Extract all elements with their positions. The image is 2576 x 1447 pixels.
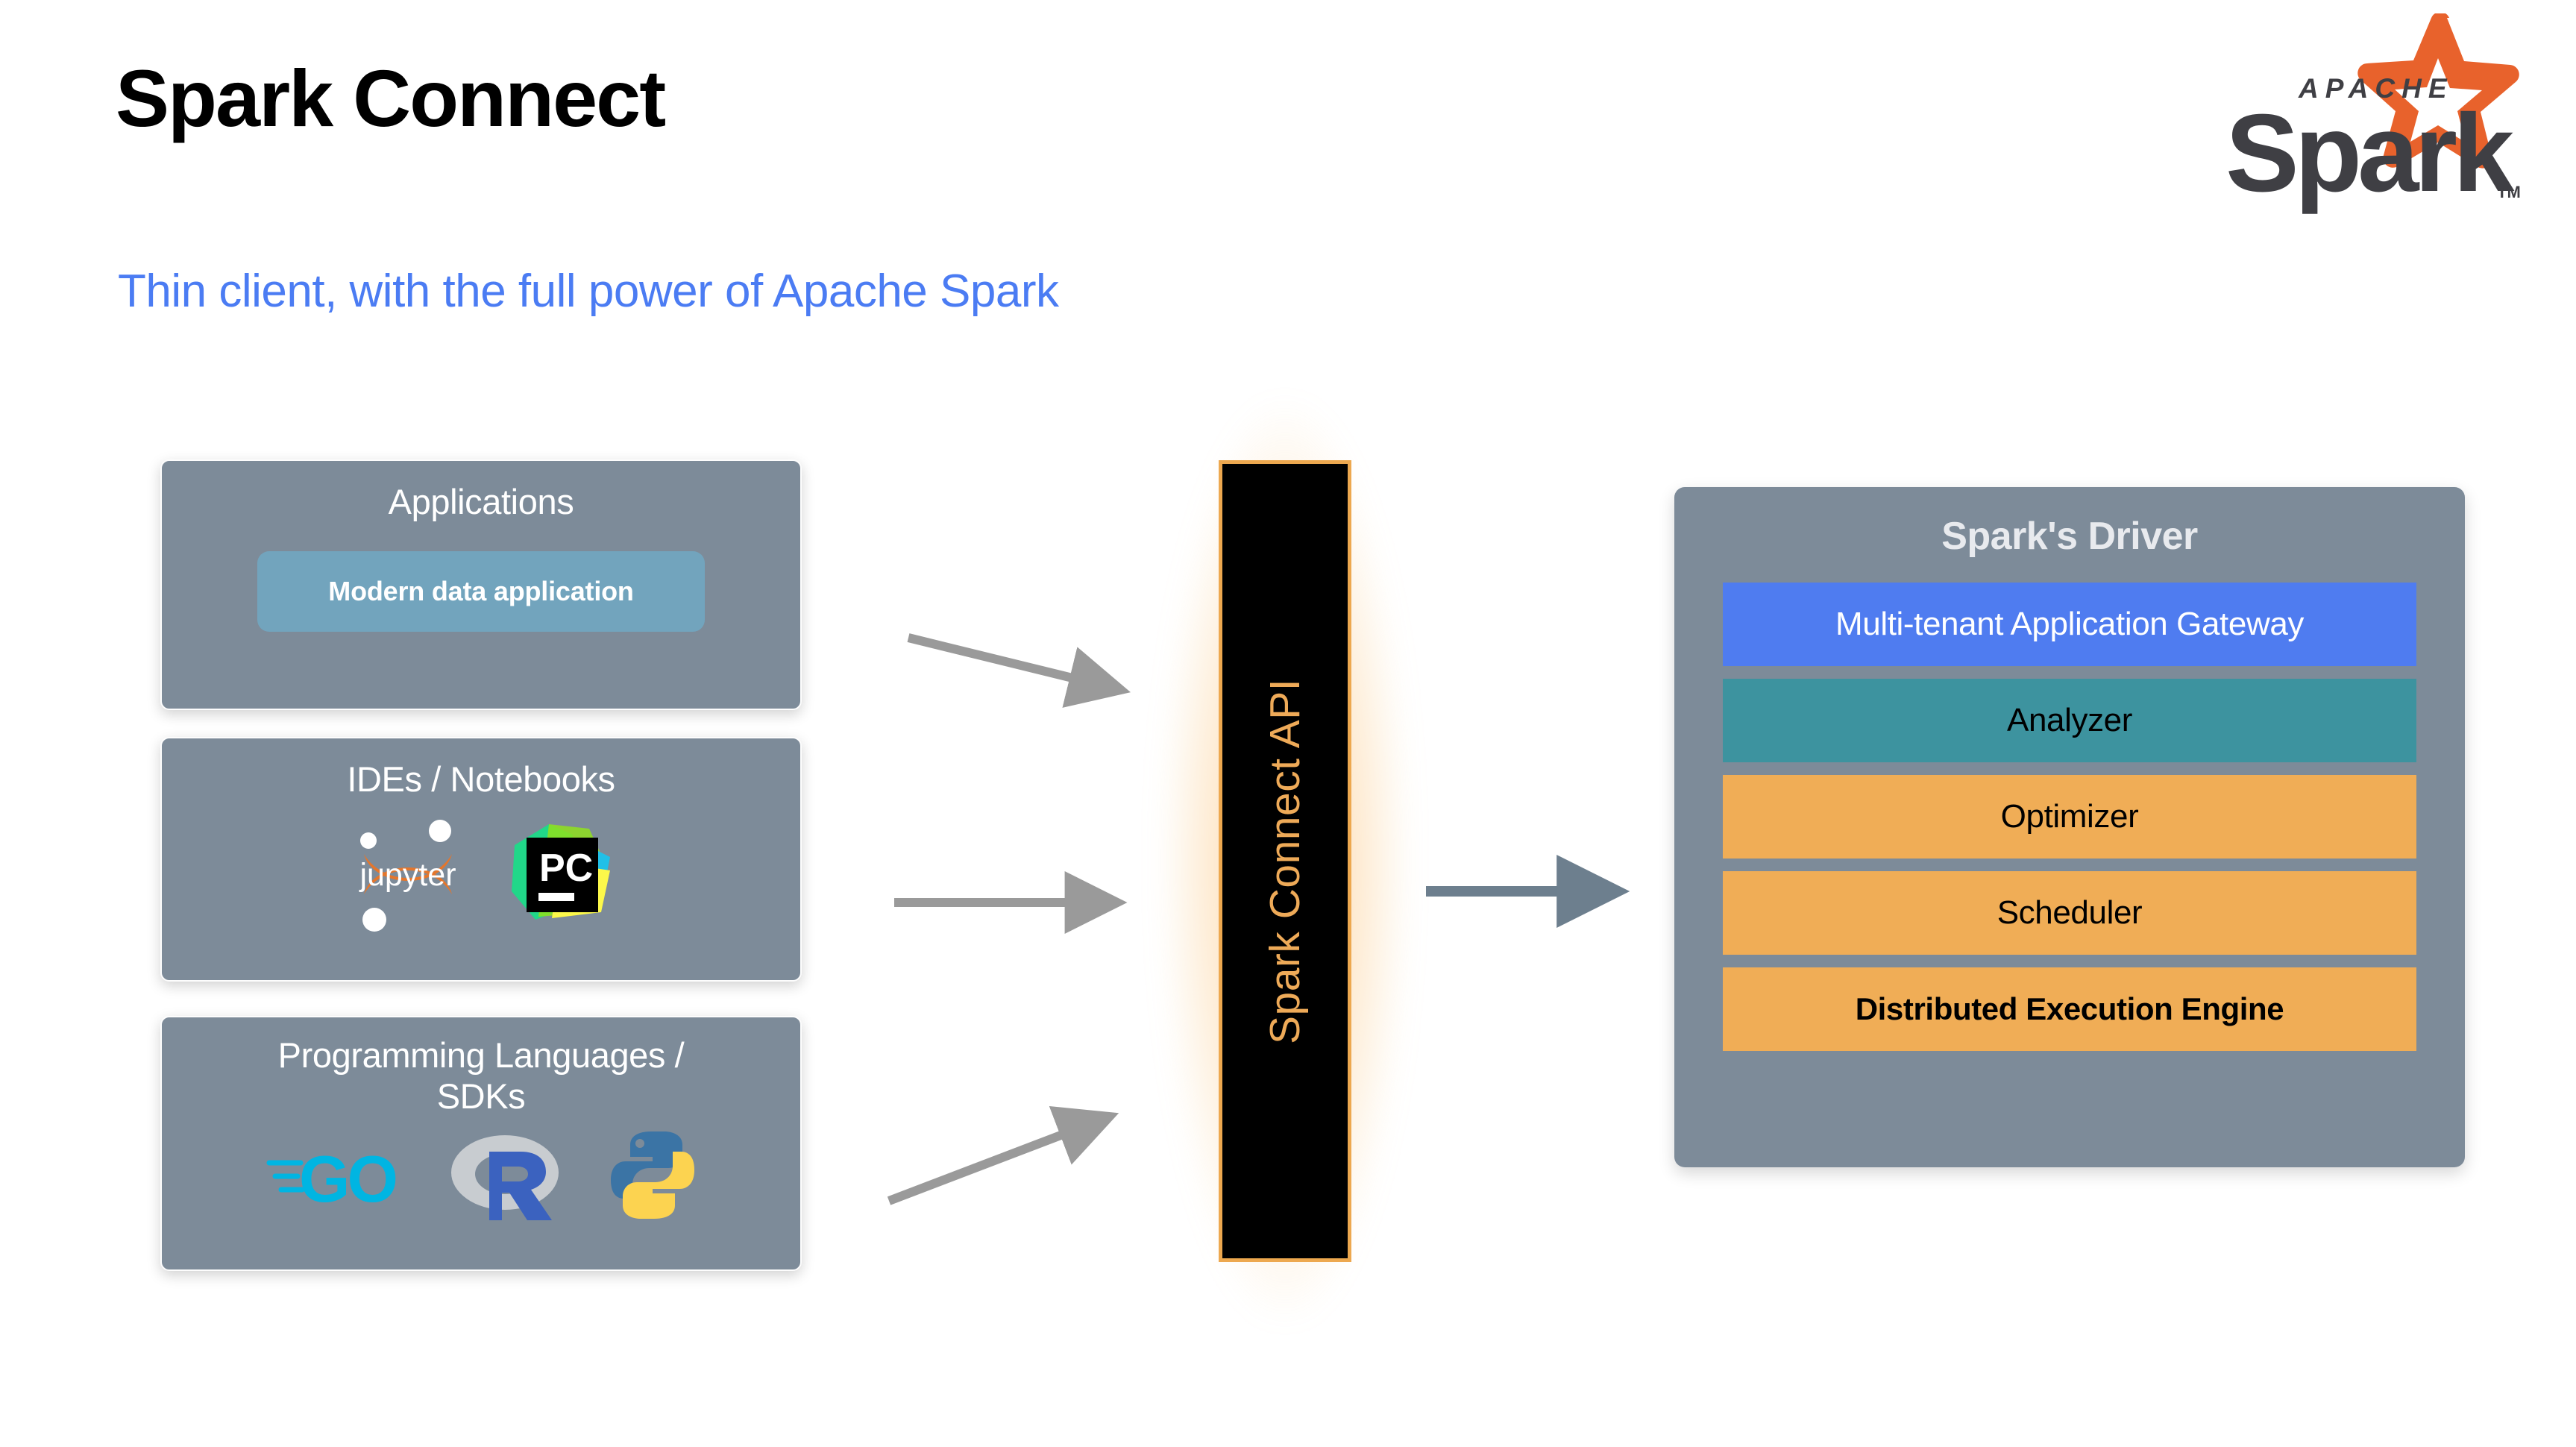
- arrow-languages-to-api: [889, 1119, 1104, 1201]
- spark-driver-panel[interactable]: Spark's Driver Multi-tenant Application …: [1674, 487, 2465, 1167]
- card-languages-title-line2: SDKs: [162, 1076, 800, 1117]
- page-title: Spark Connect: [116, 56, 665, 140]
- card-languages-title-line1: Programming Languages /: [162, 1035, 800, 1076]
- arrow-applications-to-api: [908, 638, 1115, 688]
- r-logo: [447, 1131, 563, 1220]
- spark-driver-title: Spark's Driver: [1674, 487, 2465, 559]
- logo-spark-text: Spark: [2225, 92, 2515, 215]
- driver-row-distributed-execution-engine[interactable]: Distributed Execution Engine: [1723, 967, 2416, 1051]
- pycharm-pc-text: PC: [539, 847, 593, 890]
- card-applications-title: Applications: [162, 461, 800, 523]
- api-bar-body: Spark Connect API: [1219, 460, 1351, 1262]
- driver-row-scheduler[interactable]: Scheduler: [1723, 871, 2416, 955]
- card-programming-languages[interactable]: Programming Languages / SDKs GO: [160, 1016, 802, 1271]
- card-ides-notebooks[interactable]: IDEs / Notebooks jupyter PC: [160, 737, 802, 982]
- modern-data-application-pill[interactable]: Modern data application: [257, 551, 705, 632]
- logo-trademark-text: TM: [2497, 183, 2521, 201]
- slide-root: Spark Connect Thin client, with the full…: [0, 0, 2576, 1447]
- go-logo: GO: [265, 1136, 403, 1214]
- driver-row-gateway[interactable]: Multi-tenant Application Gateway: [1723, 583, 2416, 666]
- driver-row-analyzer[interactable]: Analyzer: [1723, 679, 2416, 762]
- card-applications[interactable]: Applications Modern data application: [160, 459, 802, 710]
- card-languages-title: Programming Languages / SDKs: [162, 1017, 800, 1117]
- api-bar-label: Spark Connect API: [1222, 464, 1348, 1258]
- driver-row-optimizer[interactable]: Optimizer: [1723, 775, 2416, 859]
- spark-connect-api-bar[interactable]: Spark Connect API: [1219, 460, 1351, 1262]
- card-ides-title: IDEs / Notebooks: [162, 738, 800, 800]
- ide-logo-row: jupyter PC: [162, 811, 800, 938]
- go-wordmark: GO: [299, 1142, 395, 1214]
- driver-component-list: Multi-tenant Application Gateway Analyze…: [1674, 583, 2465, 1051]
- page-subtitle: Thin client, with the full power of Apac…: [118, 265, 1058, 318]
- jupyter-wordmark: jupyter: [358, 857, 456, 893]
- apache-spark-logo: APACHE Spark TM: [2181, 13, 2531, 222]
- python-logo: [608, 1129, 697, 1222]
- pycharm-logo: PC: [506, 818, 618, 930]
- language-logo-row: GO: [162, 1129, 800, 1222]
- jupyter-logo: jupyter: [345, 811, 471, 938]
